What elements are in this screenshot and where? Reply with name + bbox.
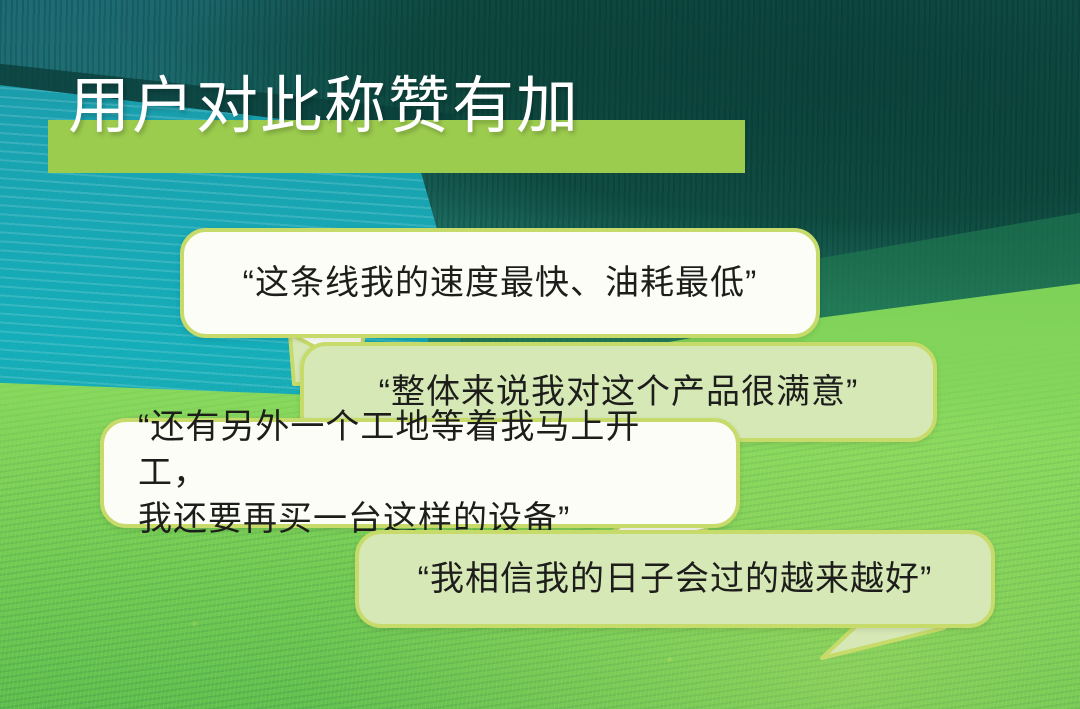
page-title: 用户对此称赞有加 [48,70,808,180]
testimonial-text-3: “还有另外一个工地等着我马上开工， 我还要再买一台这样的设备” [138,404,702,542]
title-text: 用户对此称赞有加 [68,70,580,144]
testimonial-bubble-4: “我相信我的日子会过的越来越好” [355,530,995,628]
testimonial-bubble-3: “还有另外一个工地等着我马上开工， 我还要再买一台这样的设备” [100,418,740,528]
testimonial-bubble-1: “这条线我的速度最快、油耗最低” [180,228,820,338]
testimonial-poster: 用户对此称赞有加 “这条线我的速度最快、油耗最低” “整体来说我对这个产品很满意… [0,0,1080,709]
testimonial-text-1: “这条线我的速度最快、油耗最低” [212,260,788,306]
testimonial-text-4: “我相信我的日子会过的越来越好” [393,556,957,602]
